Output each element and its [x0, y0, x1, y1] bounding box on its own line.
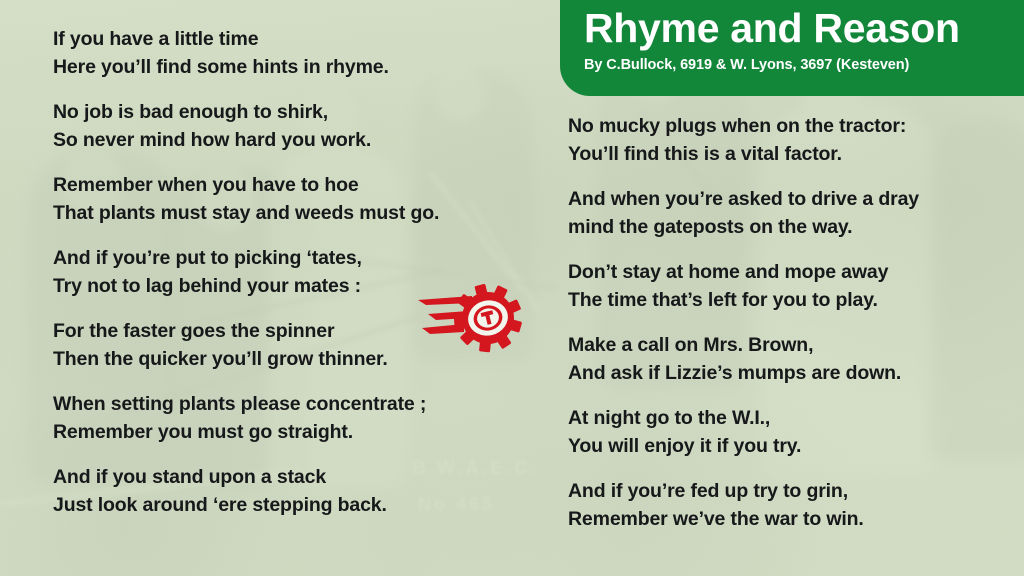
verse-line: And if you’re fed up try to grin, — [568, 478, 1016, 506]
stanza: Remember when you have to hoe That plant… — [53, 172, 523, 227]
verse-line: You will enjoy it if you try. — [568, 433, 1016, 461]
verse-line: You’ll find this is a vital factor. — [568, 141, 1016, 169]
verse-line: That plants must stay and weeds must go. — [53, 200, 523, 228]
poster-root: B.W.A.E.C. No 465 Rhyme and Reason By C.… — [0, 0, 1024, 576]
verse-line: No job is bad enough to shirk, — [53, 99, 523, 127]
verse-line: Make a call on Mrs. Brown, — [568, 332, 1016, 360]
stanza: No job is bad enough to shirk, So never … — [53, 99, 523, 154]
stanza: At night go to the W.I., You will enjoy … — [568, 405, 1016, 460]
stanza: And when you’re asked to drive a dray mi… — [568, 186, 1016, 241]
verse-line: At night go to the W.I., — [568, 405, 1016, 433]
verse-line: Here you’ll find some hints in rhyme. — [53, 54, 523, 82]
title-panel: Rhyme and Reason By C.Bullock, 6919 & W.… — [560, 0, 1024, 96]
verse-line: Remember you must go straight. — [53, 419, 523, 447]
stanza: Make a call on Mrs. Brown, And ask if Li… — [568, 332, 1016, 387]
verse-line: When setting plants please concentrate ; — [53, 391, 523, 419]
stanza: If you have a little time Here you’ll fi… — [53, 26, 523, 81]
verse-line: mind the gateposts on the way. — [568, 214, 1016, 242]
stanza: When setting plants please concentrate ;… — [53, 391, 523, 446]
verse-line: So never mind how hard you work. — [53, 127, 523, 155]
verse-line: Remember we’ve the war to win. — [568, 506, 1016, 534]
verse-line: The time that’s left for you to play. — [568, 287, 1016, 315]
verse-line: And when you’re asked to drive a dray — [568, 186, 1016, 214]
stanza: And if you stand upon a stack Just look … — [53, 464, 523, 519]
page-title: Rhyme and Reason — [584, 6, 998, 52]
stanza: No mucky plugs when on the tractor: You’… — [568, 113, 1016, 168]
verse-column-left: If you have a little time Here you’ll fi… — [53, 26, 523, 519]
verse-line: If you have a little time — [53, 26, 523, 54]
verse-line: Just look around ‘ere stepping back. — [53, 492, 523, 520]
stanza: And if you’re fed up try to grin, Rememb… — [568, 478, 1016, 533]
verse-line: No mucky plugs when on the tractor: — [568, 113, 1016, 141]
verse-line: Remember when you have to hoe — [53, 172, 523, 200]
stanza: Don’t stay at home and mope away The tim… — [568, 259, 1016, 314]
verse-line: And ask if Lizzie’s mumps are down. — [568, 360, 1016, 388]
red-cog-speed-logo-icon — [418, 276, 530, 360]
verse-column-right: No mucky plugs when on the tractor: You’… — [568, 113, 1016, 533]
verse-line: And if you stand upon a stack — [53, 464, 523, 492]
verse-line: Don’t stay at home and mope away — [568, 259, 1016, 287]
verse-line: And if you’re put to picking ‘tates, — [53, 245, 523, 273]
poster-byline: By C.Bullock, 6919 & W. Lyons, 3697 (Kes… — [584, 57, 998, 73]
